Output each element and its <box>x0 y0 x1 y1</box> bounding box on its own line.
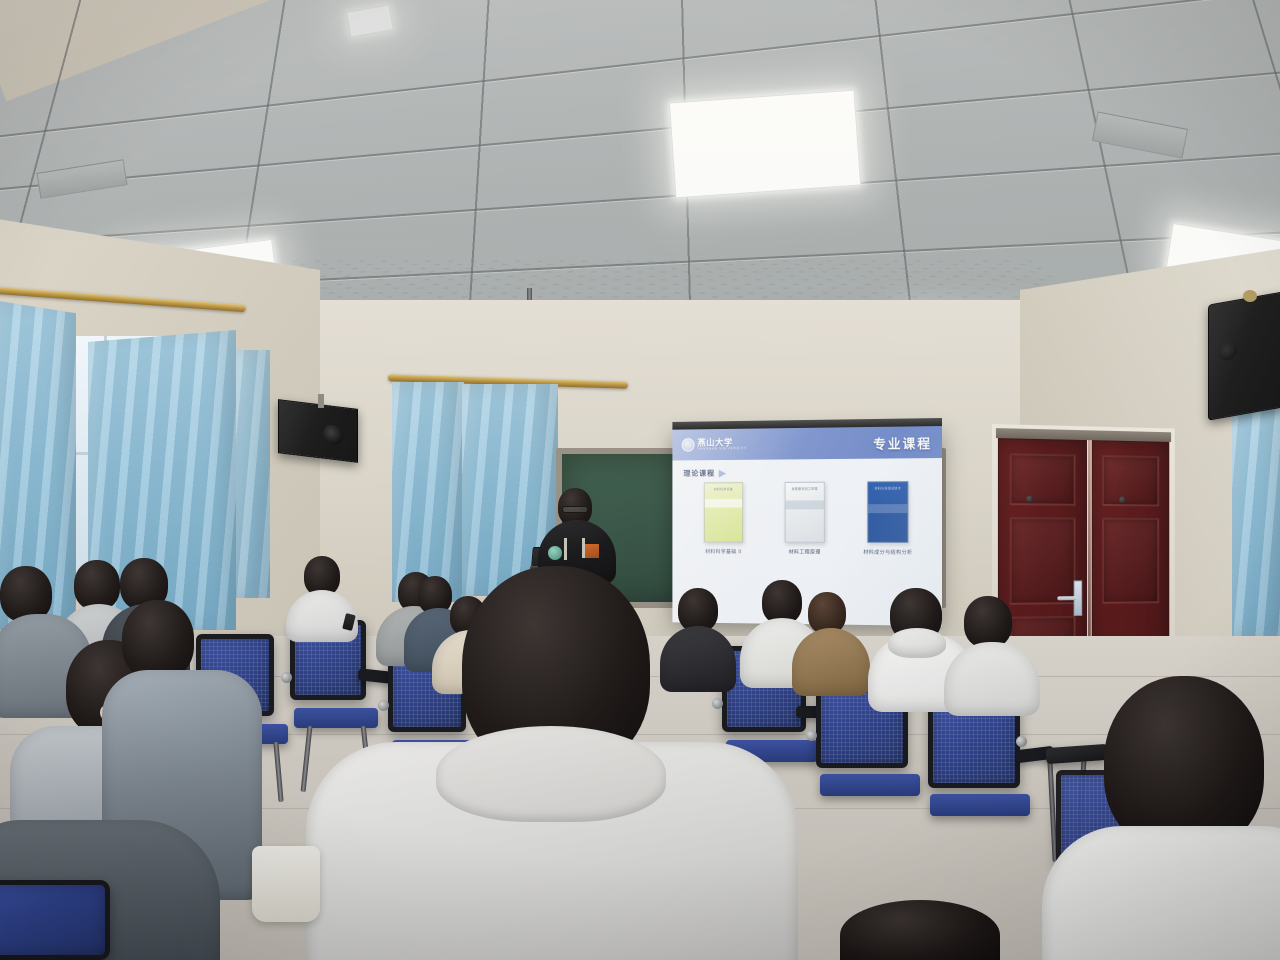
book-caption: 材料科学基础 II <box>705 548 741 555</box>
book-cover-band <box>868 504 907 513</box>
floor-bag[interactable] <box>252 846 320 922</box>
chair-backrest[interactable] <box>0 880 110 960</box>
chair-seat[interactable] <box>820 774 920 796</box>
wall-speaker <box>1208 291 1280 420</box>
hood <box>888 628 946 658</box>
wall-speaker <box>278 399 358 463</box>
door-handle[interactable] <box>1057 596 1076 600</box>
slide-section-heading: 理论课程 <box>683 466 930 479</box>
book-item: 材料分析测试技术 材料成分与结构分析 <box>848 481 929 556</box>
book-cover: 材料分析测试技术 <box>867 481 908 543</box>
curtain-panel[interactable] <box>236 350 270 598</box>
university-seal-icon <box>682 438 695 452</box>
slide-body: 理论课程 材料科学基础 材料科学基础 II 金属塑性加工原理 <box>672 458 942 556</box>
book-cover-band <box>705 499 742 508</box>
book-caption: 材料成分与结构分析 <box>863 549 912 556</box>
door-panel <box>1102 455 1160 506</box>
book-cover-title: 材料分析测试技术 <box>868 486 907 490</box>
audience-member-foreground <box>316 566 786 960</box>
book-cover-band <box>786 500 824 509</box>
book-cover: 金属塑性加工原理 <box>785 482 825 543</box>
audience-member-foreground <box>1062 676 1280 960</box>
arrow-right-icon <box>719 469 726 477</box>
chair-seat[interactable] <box>930 794 1030 816</box>
person-torso <box>1042 826 1280 960</box>
person-torso <box>792 628 870 696</box>
book-cover: 材料科学基础 <box>704 482 743 542</box>
curtain-panel[interactable] <box>1232 398 1280 638</box>
audience-member <box>944 596 1040 714</box>
chair-pivot <box>806 730 817 741</box>
person-torso <box>944 642 1040 716</box>
book-item: 材料科学基础 材料科学基础 II <box>685 482 762 555</box>
door-panel <box>1010 453 1076 505</box>
hoodie-drawstring <box>564 538 567 560</box>
hood <box>436 726 666 822</box>
door-panel <box>1010 517 1076 605</box>
lanyard-badge <box>548 546 562 560</box>
audience-member <box>792 592 870 692</box>
slide-header: 燕山大学 YANSHAN UNIVERSITY 专业课程 <box>672 426 942 461</box>
door-panel <box>1102 518 1160 604</box>
door-stud-icon <box>1026 495 1033 502</box>
person-head <box>964 596 1012 648</box>
speaker-bracket <box>318 394 324 408</box>
book-cover-title: 金属塑性加工原理 <box>786 487 824 491</box>
door-stud-icon <box>1119 496 1126 503</box>
slide-title: 专业课程 <box>873 433 932 453</box>
university-subtitle: YANSHAN UNIVERSITY <box>697 447 747 451</box>
book-cover-title: 材料科学基础 <box>705 487 742 491</box>
chair-pivot <box>1016 736 1027 747</box>
person-head <box>122 600 194 680</box>
speaker-cone-icon <box>323 424 343 446</box>
book-list: 材料科学基础 材料科学基础 II 金属塑性加工原理 材料工程原理 <box>683 481 930 556</box>
speaker-bracket <box>1243 290 1257 302</box>
classroom-photo-scene: 燕山大学 YANSHAN UNIVERSITY 专业课程 理论课程 材料科学基础 <box>0 0 1280 960</box>
section-label: 理论课程 <box>683 468 715 479</box>
chair-pivot <box>281 672 292 683</box>
hoodie-graphic <box>585 544 599 558</box>
ceiling-light-panel <box>669 90 861 199</box>
university-logo: 燕山大学 YANSHAN UNIVERSITY <box>682 437 747 451</box>
speaker-cone-icon <box>1219 341 1237 362</box>
book-caption: 材料工程原理 <box>789 549 821 556</box>
glasses-icon <box>562 506 588 513</box>
book-item: 金属塑性加工原理 材料工程原理 <box>765 482 844 556</box>
